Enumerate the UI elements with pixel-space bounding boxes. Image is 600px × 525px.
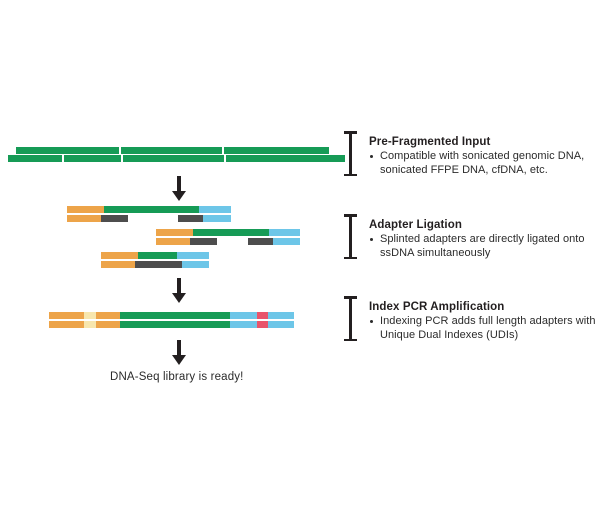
lib-top-p5-b	[96, 312, 120, 319]
frag1-top-adapter-3p	[199, 206, 231, 213]
step-bracket	[344, 296, 357, 341]
lib-top-p7-a	[230, 312, 257, 319]
step-title: Adapter Ligation	[369, 219, 600, 231]
arrow-head	[172, 355, 186, 365]
stage1-top-seg-2	[121, 147, 222, 154]
bracket-line	[349, 296, 352, 341]
step-bracket	[344, 131, 357, 176]
stage1-dna	[0, 140, 345, 164]
stage1-bottom-seg-1	[8, 155, 62, 162]
stage1-top-seg-3	[224, 147, 329, 154]
arrow-head	[172, 191, 186, 201]
frag2-top-insert	[193, 229, 269, 236]
step-bullet: Compatible with sonicated genomic DNA, s…	[369, 150, 600, 177]
lib-bottom-index-i5	[84, 321, 96, 328]
step-bullet: Indexing PCR adds full length adapters w…	[369, 315, 600, 342]
lib-bottom-index-i7	[257, 321, 268, 328]
frag3-top-adapter-3p	[177, 252, 209, 259]
stage2-fragment-1	[0, 206, 345, 228]
stage1-bottom-seg-2	[64, 155, 121, 162]
step-bracket	[344, 214, 357, 259]
lib-top-p7-b	[268, 312, 294, 319]
frag2-top-adapter-5p	[156, 229, 193, 236]
frag2-bottom-adapter-3p	[273, 238, 300, 245]
lib-bottom-insert	[120, 321, 230, 328]
step-bullet: Splinted adapters are directly ligated o…	[369, 233, 600, 260]
arrow-head	[172, 293, 186, 303]
step-body: Pre-Fragmented Input Compatible with son…	[369, 136, 600, 177]
step-body: Index PCR Amplification Indexing PCR add…	[369, 301, 600, 342]
stage2-fragment-3	[0, 252, 345, 274]
frag2-splint-left	[190, 238, 217, 245]
frag3-bottom-adapter-3p	[182, 261, 209, 268]
step-block-adapter-ligation: Adapter Ligation Splinted adapters are d…	[344, 214, 600, 259]
bracket-line	[349, 214, 352, 259]
step-block-index-pcr-amplification: Index PCR Amplification Indexing PCR add…	[344, 296, 600, 341]
lib-top-index-i5	[84, 312, 96, 319]
step-bullet-list: Compatible with sonicated genomic DNA, s…	[369, 150, 600, 177]
bracket-cap-bottom	[344, 174, 357, 177]
step-title: Pre-Fragmented Input	[369, 136, 600, 148]
step-bullet-list: Indexing PCR adds full length adapters w…	[369, 315, 600, 342]
lib-bottom-p5-b	[96, 321, 120, 328]
frag1-splint-right	[178, 215, 203, 222]
frag1-bottom-adapter-5p	[67, 215, 101, 222]
bracket-line	[349, 131, 352, 176]
lib-top-insert	[120, 312, 230, 319]
frag1-bottom-adapter-3p	[203, 215, 231, 222]
frag2-top-adapter-3p	[269, 229, 300, 236]
bracket-cap-bottom	[344, 339, 357, 342]
bracket-cap-bottom	[344, 257, 357, 260]
stage1-bottom-seg-3	[123, 155, 224, 162]
step-title: Index PCR Amplification	[369, 301, 600, 313]
step-bullet-list: Splinted adapters are directly ligated o…	[369, 233, 600, 260]
lib-bottom-p7-b	[268, 321, 294, 328]
frag2-bottom-adapter-5p	[156, 238, 190, 245]
stage2-fragment-2	[0, 229, 345, 251]
frag3-top-adapter-5p	[101, 252, 138, 259]
frag3-splint-right	[157, 261, 182, 268]
lib-bottom-p7-a	[230, 321, 257, 328]
step-block-pre-fragmented-input: Pre-Fragmented Input Compatible with son…	[344, 131, 600, 176]
frag3-top-insert	[138, 252, 177, 259]
frag3-bottom-adapter-5p	[101, 261, 135, 268]
lib-top-p5-a	[49, 312, 84, 319]
stage1-top-seg-1	[16, 147, 119, 154]
frag1-splint-left	[101, 215, 128, 222]
frag1-top-insert	[104, 206, 199, 213]
figure-canvas: DNA-Seq library is ready! Pre-Fragmented…	[0, 0, 600, 525]
step-body: Adapter Ligation Splinted adapters are d…	[369, 219, 600, 260]
stage1-bottom-seg-4	[226, 155, 345, 162]
lib-bottom-p5-a	[49, 321, 84, 328]
result-caption: DNA-Seq library is ready!	[110, 371, 243, 383]
frag2-splint-right	[248, 238, 273, 245]
frag1-top-adapter-5p	[67, 206, 104, 213]
lib-top-index-i7	[257, 312, 268, 319]
stage3-indexed-library	[0, 312, 345, 334]
